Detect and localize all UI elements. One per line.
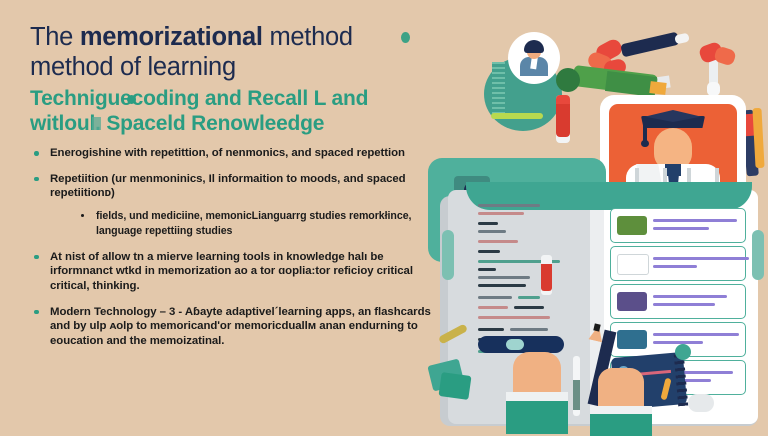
list-item: fields, und mediciine, memonicLianguarrg…	[76, 209, 440, 239]
title-emphasis: memorizational	[80, 23, 263, 51]
test-tube-base-icon	[707, 82, 720, 96]
text-column: The memorizational method method of lear…	[30, 22, 440, 412]
illustration	[438, 0, 768, 434]
cuff-icon	[506, 392, 568, 401]
blood-vial-cap-icon	[556, 95, 570, 104]
list-item: Repetiition (ur menmoninics, Il informai…	[30, 172, 440, 239]
list-item[interactable]	[610, 284, 746, 319]
page-text-line	[478, 316, 550, 319]
thermometer-tip-icon	[649, 81, 666, 95]
bullet-text: Modern Technology – 3 - Aɓayte adaptivel…	[50, 306, 431, 347]
page-text-line	[478, 204, 540, 207]
thin-pen-tip-icon	[573, 380, 580, 410]
page-subtitle: Techniguecoding and Recall L and witloul…	[30, 86, 440, 136]
cuff-icon	[590, 406, 652, 414]
list-item-thumbnail	[617, 330, 647, 349]
list-item[interactable]	[610, 246, 746, 281]
list-item-line	[653, 219, 737, 222]
subtitle-line2-text: witloul. Spaceld Renowleedge	[30, 112, 324, 135]
list-item: At nist of allow tn a mierve learning to…	[30, 250, 440, 294]
notebook-badge-icon	[675, 344, 691, 360]
list-item: Modern Technology – 3 - Aɓayte adaptivel…	[30, 305, 440, 349]
subtitle-smudge-icon	[92, 117, 101, 130]
bullet-text: Enerogishine with repetittion, of nenmon…	[50, 147, 405, 159]
page-text-line	[478, 222, 498, 225]
page-text-line	[514, 306, 544, 309]
page-text-line	[518, 296, 540, 299]
sub-bullet-text: fields, und mediciine, memonicLianguarrg…	[96, 210, 411, 237]
title-glyph-artifact-icon	[401, 32, 410, 43]
sub-bullet-list: fields, und mediciine, memonicLianguarrg…	[50, 209, 440, 239]
page-text-line	[478, 276, 530, 279]
pen-icon	[752, 108, 764, 168]
page-text-line	[478, 268, 496, 271]
list-item-thumbnail	[617, 254, 649, 275]
page-title: The memorizational method method of lear…	[30, 22, 440, 82]
list-item-line	[653, 341, 703, 344]
bullet-list: Enerogishine with repetittion, of nenmon…	[30, 146, 440, 348]
page-text-line	[478, 306, 508, 309]
eraser-icon	[688, 394, 714, 412]
graduation-cap-knot-icon	[641, 140, 649, 147]
device-bar-indicator	[506, 339, 524, 350]
page-text-line	[478, 212, 524, 215]
blood-vial-fill-icon	[541, 264, 552, 291]
page-text-line	[478, 328, 504, 331]
thermometer-head-icon	[556, 68, 580, 92]
subtitle-line1: Techniguecoding and Recall L and	[30, 87, 368, 110]
slide-canvas: The memorizational method method of lear…	[0, 0, 768, 434]
book-tab-right	[752, 230, 764, 280]
page-text-line	[478, 250, 500, 253]
title-prefix: The	[30, 23, 80, 51]
list-item-line	[653, 265, 697, 268]
list-item: Enerogishine with repetittion, of nenmon…	[30, 146, 440, 161]
list-item-line	[653, 303, 715, 306]
money-note-icon	[438, 372, 471, 400]
subtitle-line1-text: Techniguecoding and Recall L and	[30, 87, 368, 110]
syringe-icon	[620, 32, 679, 58]
blood-vial-fill-icon	[556, 104, 570, 137]
subtitle-line2: witloul. Spaceld Renowleedge	[30, 112, 324, 135]
list-item-line	[653, 257, 749, 260]
subtitle-glyph-artifact-icon	[127, 95, 136, 104]
list-item-line	[653, 295, 727, 298]
title-line1: The memorizational	[30, 23, 263, 51]
bullet-text: Repetiition (ur menmoninics, Il informai…	[50, 173, 406, 200]
list-item-thumbnail	[617, 292, 647, 311]
syringe-tip-icon	[674, 33, 690, 45]
page-text-line	[510, 328, 548, 331]
avatar-hair-icon	[524, 40, 544, 53]
list-item-line	[653, 227, 709, 230]
list-item[interactable]	[610, 208, 746, 243]
book-tab-left	[442, 230, 454, 280]
page-text-line	[478, 230, 506, 233]
list-item-thumbnail	[617, 216, 647, 235]
bullet-text: At nist of allow tn a mierve learning to…	[50, 251, 413, 292]
disc-bar-icon	[491, 113, 543, 119]
page-text-line	[478, 296, 512, 299]
page-text-line	[478, 240, 518, 243]
list-item-line	[653, 333, 739, 336]
page-text-line	[478, 284, 526, 287]
disc-stripe-icon	[492, 62, 505, 118]
